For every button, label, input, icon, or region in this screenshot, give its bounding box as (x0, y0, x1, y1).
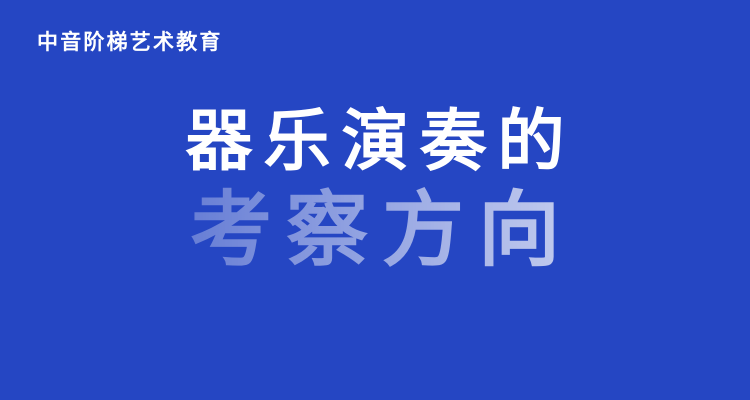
poster-canvas: 中音阶梯艺术教育 器乐演奏的 考察方向 (0, 0, 750, 400)
title-line-1: 器乐演奏的 (0, 102, 750, 180)
brand-logo-text: 中音阶梯艺术教育 (37, 29, 223, 55)
title-line-2: 考察方向 (0, 185, 750, 277)
headline-block: 器乐演奏的 考察方向 (0, 102, 750, 277)
